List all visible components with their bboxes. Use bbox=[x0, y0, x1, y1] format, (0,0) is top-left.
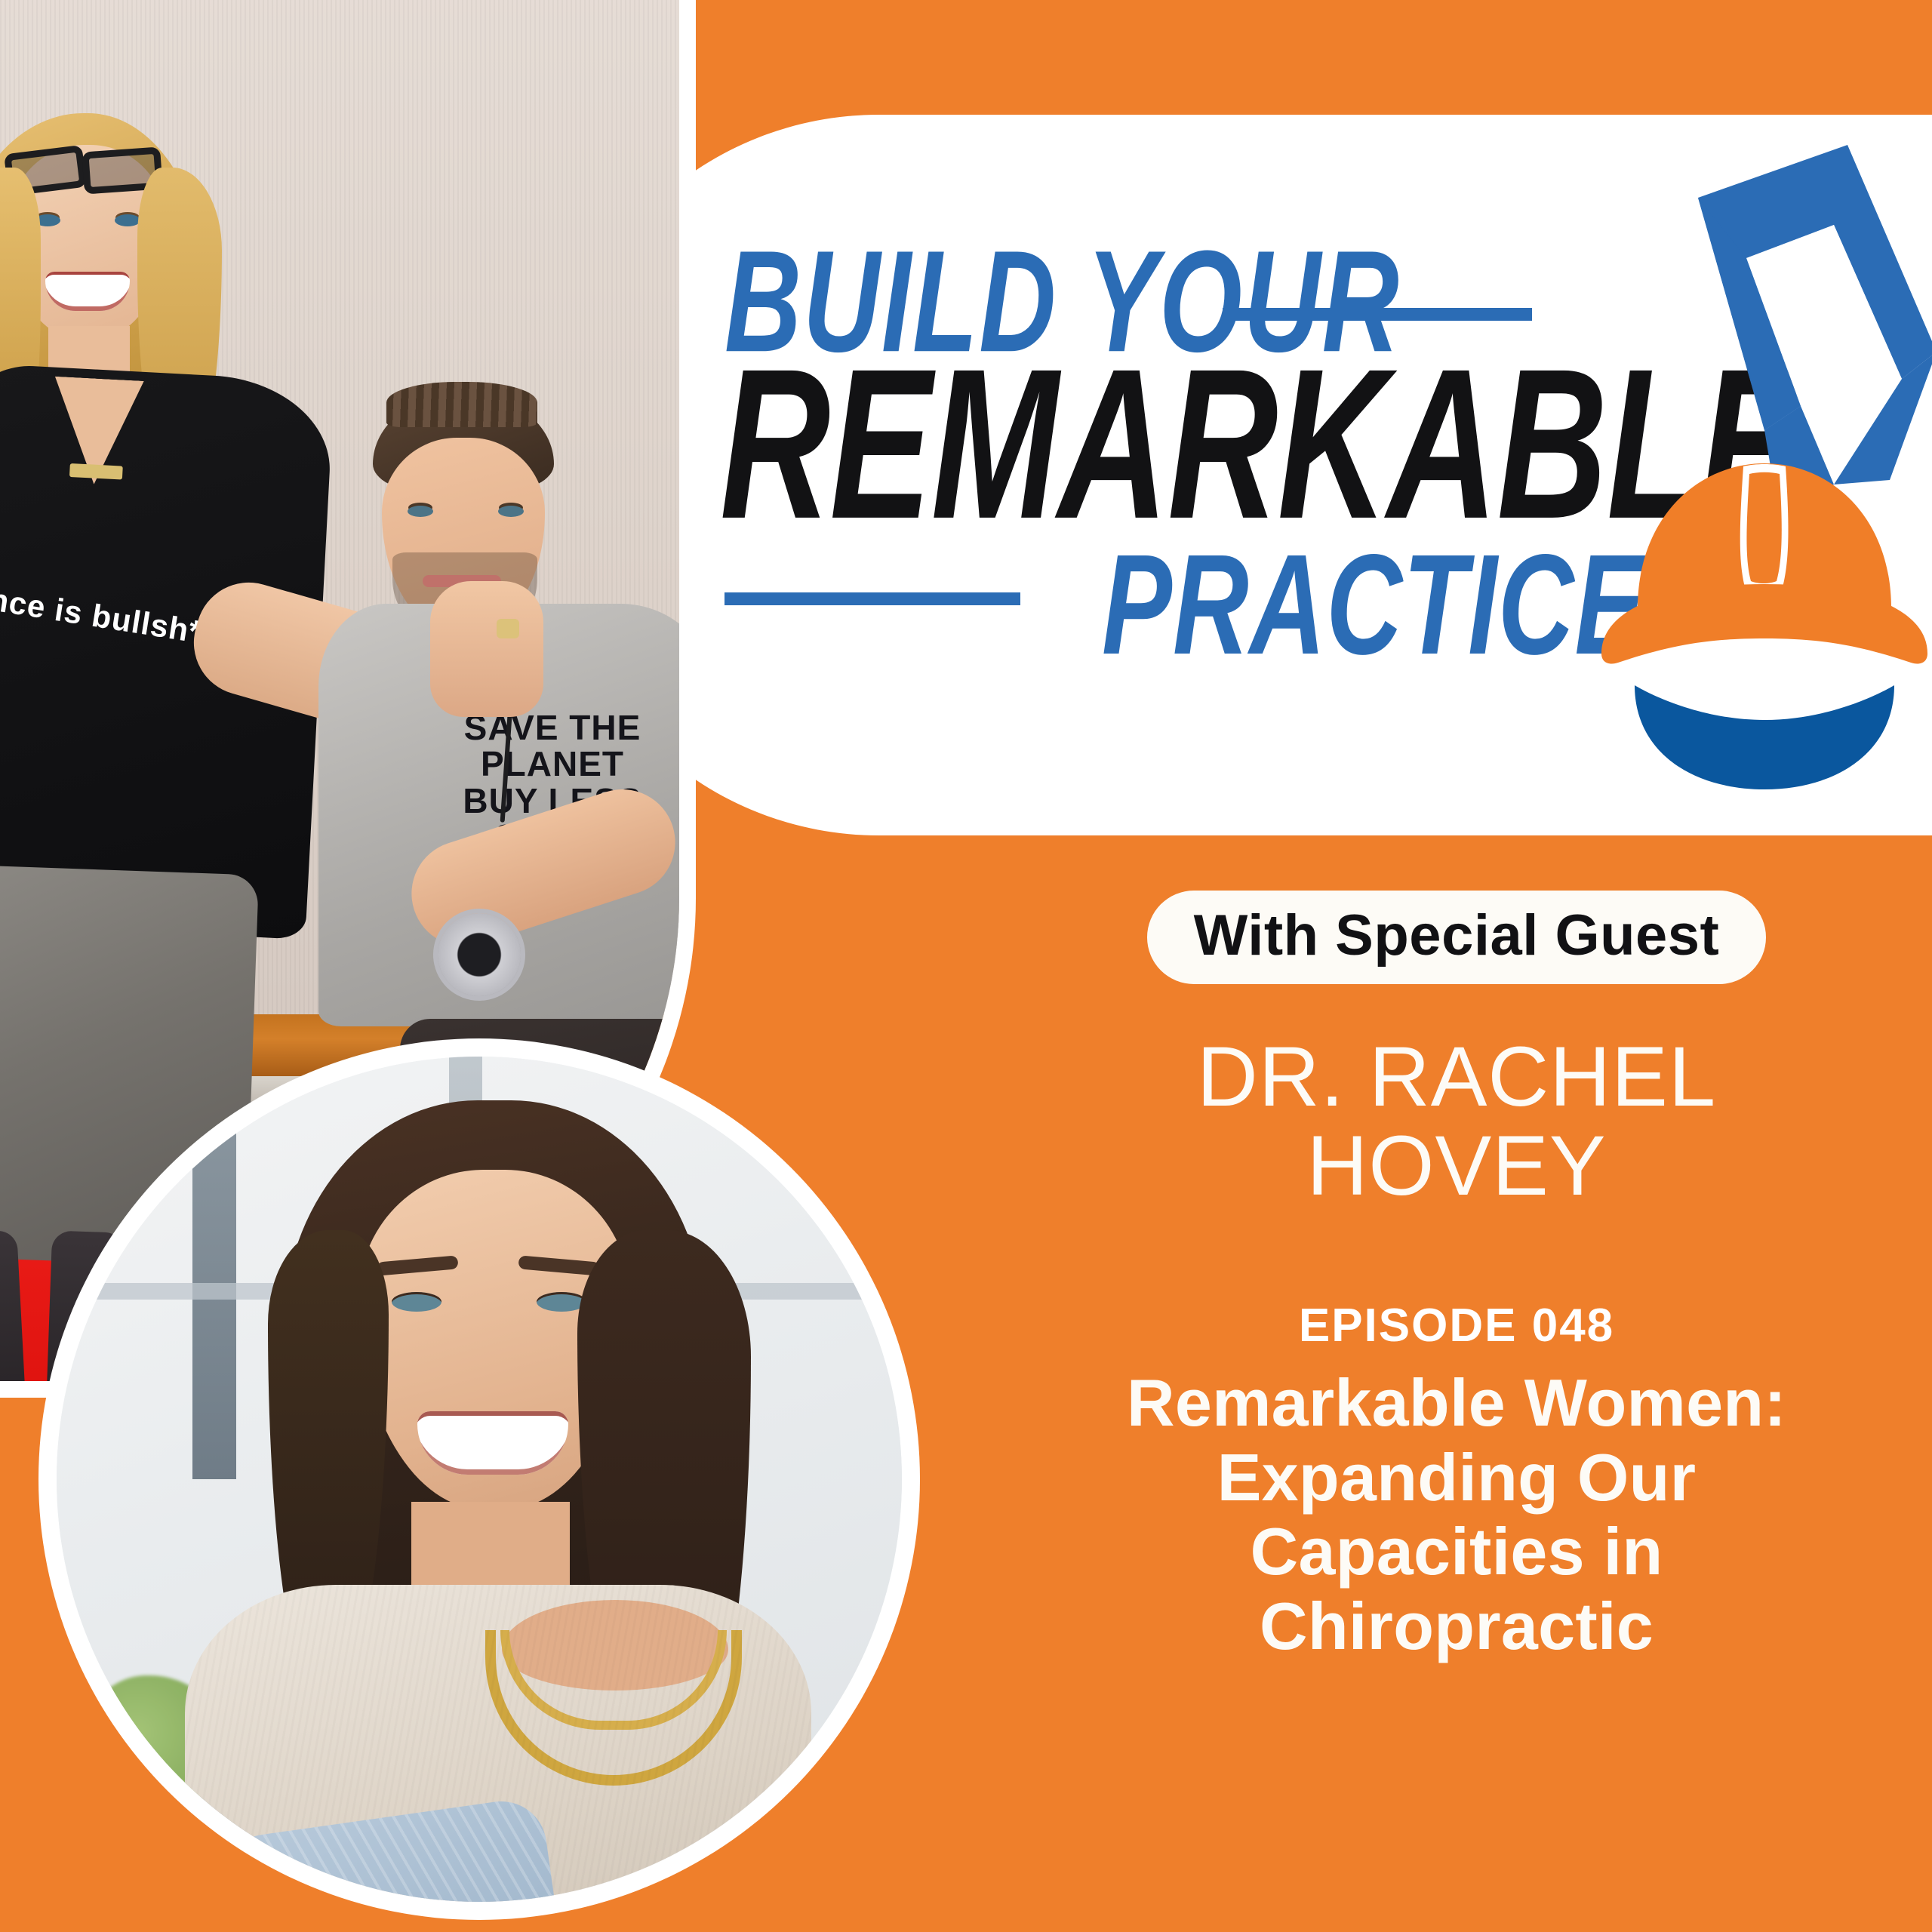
with-special-guest-badge: With Special Guest bbox=[1147, 891, 1767, 984]
man-fist-on-chin bbox=[430, 581, 543, 717]
logo-line-practice: PRACTICE bbox=[1102, 533, 1645, 675]
logo-panel: BUILD YOUR REMARKABLE PRACTICE bbox=[562, 115, 1932, 835]
man-eyes bbox=[406, 506, 525, 519]
episode-info-column: With Special Guest DR. RACHEL HOVEY EPIS… bbox=[1004, 891, 1909, 1663]
woman-bar-necklace bbox=[69, 463, 123, 480]
podcast-cover-art: balance is bullsh*t. SAVE THE PLANET BUY… bbox=[0, 0, 1932, 1932]
window-frame-left bbox=[192, 1057, 236, 1479]
episode-title-line-4: Chiropractic bbox=[1004, 1589, 1909, 1664]
guest-name: DR. RACHEL HOVEY bbox=[1004, 1032, 1909, 1210]
episode-title-line-1: Remarkable Women: bbox=[1004, 1366, 1909, 1441]
podcast-logo: BUILD YOUR REMARKABLE PRACTICE bbox=[724, 160, 1774, 809]
exclamation-hard-hat-icon bbox=[1585, 125, 1932, 789]
episode-title: Remarkable Women: Expanding Our Capaciti… bbox=[1004, 1366, 1909, 1663]
guest-eye-left bbox=[392, 1292, 441, 1312]
episode-number: EPISODE 048 bbox=[1004, 1299, 1909, 1352]
guest-name-line-1: DR. RACHEL bbox=[1004, 1032, 1909, 1121]
guest-photo bbox=[57, 1057, 902, 1902]
logo-rule-top bbox=[1223, 308, 1532, 321]
guest-gold-chain-long bbox=[485, 1630, 742, 1786]
episode-title-line-2: Expanding Our bbox=[1004, 1441, 1909, 1515]
guest-gold-chain-short bbox=[500, 1630, 727, 1730]
guest-name-line-2: HOVEY bbox=[1004, 1121, 1909, 1211]
guest-collar-opening bbox=[502, 1600, 728, 1690]
woman-eyes bbox=[30, 214, 145, 229]
logo-rule-bottom bbox=[724, 592, 1020, 605]
man-wedding-ring bbox=[497, 619, 519, 638]
sunglasses-on-head-icon bbox=[5, 145, 163, 183]
guest-smile bbox=[417, 1411, 568, 1475]
episode-title-line-3: Capacities in bbox=[1004, 1515, 1909, 1589]
woman-smile bbox=[45, 272, 130, 311]
